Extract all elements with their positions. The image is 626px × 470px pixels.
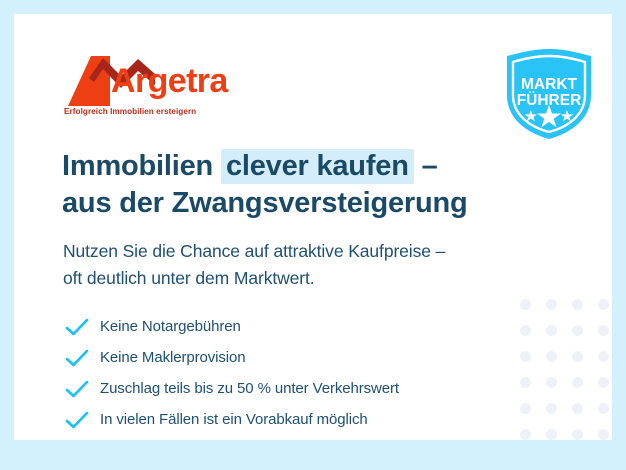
headline-part2: –: [414, 150, 438, 182]
dot-pattern-decoration: [520, 299, 612, 440]
page-frame: Argetra Erfolgreich Immobilien ersteiger…: [0, 0, 626, 470]
decorative-dot: [598, 299, 609, 310]
logo-wordmark: Argetra: [111, 64, 228, 98]
check-icon: [64, 379, 90, 399]
decorative-dot: [546, 403, 557, 414]
decorative-dot: [546, 429, 557, 440]
list-item-label: Keine Notargebühren: [100, 318, 241, 335]
decorative-dot: [572, 325, 583, 336]
subhead-line2: oft deutlich unter dem Marktwert.: [63, 268, 315, 288]
check-icon: [64, 317, 90, 337]
headline-highlight: clever kaufen: [221, 149, 414, 184]
argetra-logo: Argetra Erfolgreich Immobilien ersteiger…: [58, 52, 258, 122]
decorative-dot: [598, 403, 609, 414]
check-icon: [64, 410, 90, 430]
shield-badge-icon: MARKT FÜHRER: [503, 47, 595, 141]
decorative-dot: [520, 377, 531, 388]
decorative-dot: [546, 377, 557, 388]
decorative-dot: [598, 377, 609, 388]
decorative-dot: [572, 351, 583, 362]
decorative-dot: [572, 299, 583, 310]
subhead-line1: Nutzen Sie die Chance auf attraktive Kau…: [63, 241, 445, 261]
headline-line2: aus der Zwangsversteigerung: [62, 187, 468, 219]
page-title: Immobilien clever kaufen – aus der Zwang…: [62, 148, 542, 221]
list-item: Keine Maklerprovision: [64, 342, 494, 373]
list-item: Zuschlag teils bis zu 50 % unter Verkehr…: [64, 373, 494, 404]
check-icon: [64, 348, 90, 368]
decorative-dot: [520, 299, 531, 310]
list-item-label: In vielen Fällen ist ein Vorabkauf mögli…: [100, 411, 368, 428]
list-item-label: Keine Maklerprovision: [100, 349, 245, 366]
list-item-label: Zuschlag teils bis zu 50 % unter Verkehr…: [100, 380, 399, 397]
list-item: Keine Notargebühren: [64, 311, 494, 342]
decorative-dot: [598, 351, 609, 362]
list-item: In vielen Fällen ist ein Vorabkauf mögli…: [64, 404, 494, 435]
decorative-dot: [572, 377, 583, 388]
decorative-dot: [598, 325, 609, 336]
decorative-dot: [546, 299, 557, 310]
decorative-dot: [572, 429, 583, 440]
market-leader-badge: MARKT FÜHRER: [503, 47, 595, 141]
decorative-dot: [520, 325, 531, 336]
badge-line1: MARKT: [521, 76, 577, 93]
decorative-dot: [598, 429, 609, 440]
decorative-dot: [520, 351, 531, 362]
decorative-dot: [520, 403, 531, 414]
benefits-checklist: Keine Notargebühren Keine Maklerprovisio…: [64, 311, 494, 435]
headline-part1: Immobilien: [62, 150, 221, 182]
decorative-dot: [546, 325, 557, 336]
page-subtitle: Nutzen Sie die Chance auf attraktive Kau…: [63, 238, 553, 291]
decorative-dot: [572, 403, 583, 414]
decorative-dot: [546, 351, 557, 362]
content-card: Argetra Erfolgreich Immobilien ersteiger…: [14, 14, 612, 440]
decorative-dot: [520, 429, 531, 440]
logo-tagline: Erfolgreich Immobilien ersteigern: [64, 107, 196, 116]
